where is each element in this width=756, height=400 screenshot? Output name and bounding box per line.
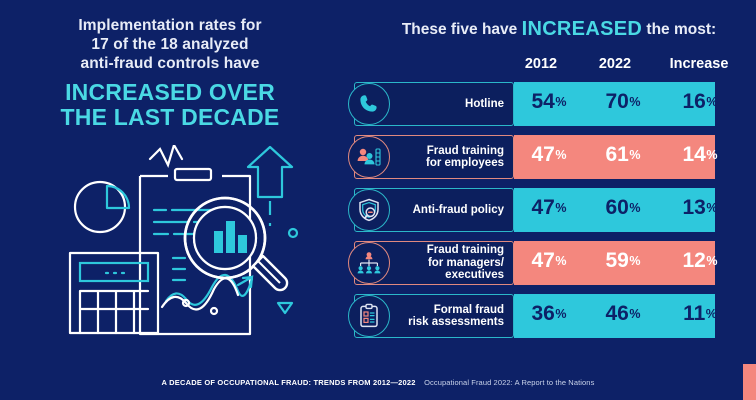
row-label: Anti-fraud policy bbox=[413, 204, 513, 217]
row-label: Hotline bbox=[465, 98, 513, 111]
value-2022: 59% bbox=[592, 249, 654, 273]
value-2012: 36% bbox=[518, 302, 580, 326]
footer-title: A DECADE OF OCCUPATIONAL FRAUD: TRENDS F… bbox=[162, 378, 416, 387]
value-increase: 13% bbox=[662, 196, 738, 220]
row-label: Formal fraud risk assessments bbox=[408, 304, 513, 329]
clipboard-check-icon bbox=[348, 295, 390, 337]
row-label: Fraud training for employees bbox=[426, 145, 513, 170]
footer-source: Occupational Fraud 2022: A Report to the… bbox=[424, 378, 594, 387]
control-rows: 54% 70% 16% Hotline 47% 61% 14% Fraud tr… bbox=[348, 82, 756, 347]
value-2022: 60% bbox=[592, 196, 654, 220]
value-2012: 47% bbox=[518, 143, 580, 167]
table-row[interactable]: 47% 59% 12% Fraud training for managers/… bbox=[348, 241, 756, 285]
row-label: Fraud training for managers/ executives bbox=[427, 244, 513, 282]
headline-text: Implementation rates for 17 of the 18 an… bbox=[0, 16, 340, 73]
footer: A DECADE OF OCCUPATIONAL FRAUD: TRENDS F… bbox=[0, 372, 756, 386]
employees-training-icon bbox=[348, 136, 390, 178]
right-panel: These five have INCREASED the most: 2012… bbox=[348, 0, 756, 400]
table-row[interactable]: 54% 70% 16% Hotline bbox=[348, 82, 756, 126]
headline-line-1: Implementation rates for bbox=[0, 16, 340, 35]
table-row[interactable]: 36% 46% 11% Formal fraud risk assessment… bbox=[348, 294, 756, 338]
value-2022: 61% bbox=[592, 143, 654, 167]
column-header-increase: Increase bbox=[654, 56, 744, 72]
value-2022: 46% bbox=[592, 302, 654, 326]
table-title-suffix: the most: bbox=[646, 21, 716, 38]
column-header-2022: 2022 bbox=[584, 56, 646, 72]
value-increase: 11% bbox=[662, 302, 738, 326]
headline-emphasis-line-2: THE LAST DECADE bbox=[0, 105, 340, 130]
left-panel: Implementation rates for 17 of the 18 an… bbox=[0, 0, 340, 400]
value-2012: 54% bbox=[518, 90, 580, 114]
value-2012: 47% bbox=[518, 249, 580, 273]
corner-accent bbox=[743, 364, 756, 400]
value-increase: 12% bbox=[662, 249, 738, 273]
shield-search-icon bbox=[348, 189, 390, 231]
headline-block: Implementation rates for 17 of the 18 an… bbox=[0, 16, 340, 130]
headline-emphasis-line-1: INCREASED OVER bbox=[0, 80, 340, 105]
column-header-2012: 2012 bbox=[510, 56, 572, 72]
org-chart-icon bbox=[348, 242, 390, 284]
table-row[interactable]: 47% 61% 14% Fraud training for employees bbox=[348, 135, 756, 179]
table-title-highlight: INCREASED bbox=[522, 18, 643, 40]
value-increase: 16% bbox=[662, 90, 738, 114]
value-2012: 47% bbox=[518, 196, 580, 220]
value-increase: 14% bbox=[662, 143, 738, 167]
headline-line-3: anti-fraud controls have bbox=[0, 54, 340, 73]
table-row[interactable]: 47% 60% 13% Anti-fraud policy bbox=[348, 188, 756, 232]
headline-emphasis: INCREASED OVER THE LAST DECADE bbox=[0, 80, 340, 130]
infographic-canvas: Implementation rates for 17 of the 18 an… bbox=[0, 0, 756, 400]
headline-line-2: 17 of the 18 analyzed bbox=[0, 35, 340, 54]
phone-icon bbox=[348, 83, 390, 125]
value-2022: 70% bbox=[592, 90, 654, 114]
fraud-analytics-illustration bbox=[62, 145, 322, 360]
column-headers: 2012 2022 Increase bbox=[348, 56, 756, 76]
table-title-prefix: These five have bbox=[402, 21, 517, 38]
table-title: These five have INCREASED the most: bbox=[368, 18, 750, 41]
